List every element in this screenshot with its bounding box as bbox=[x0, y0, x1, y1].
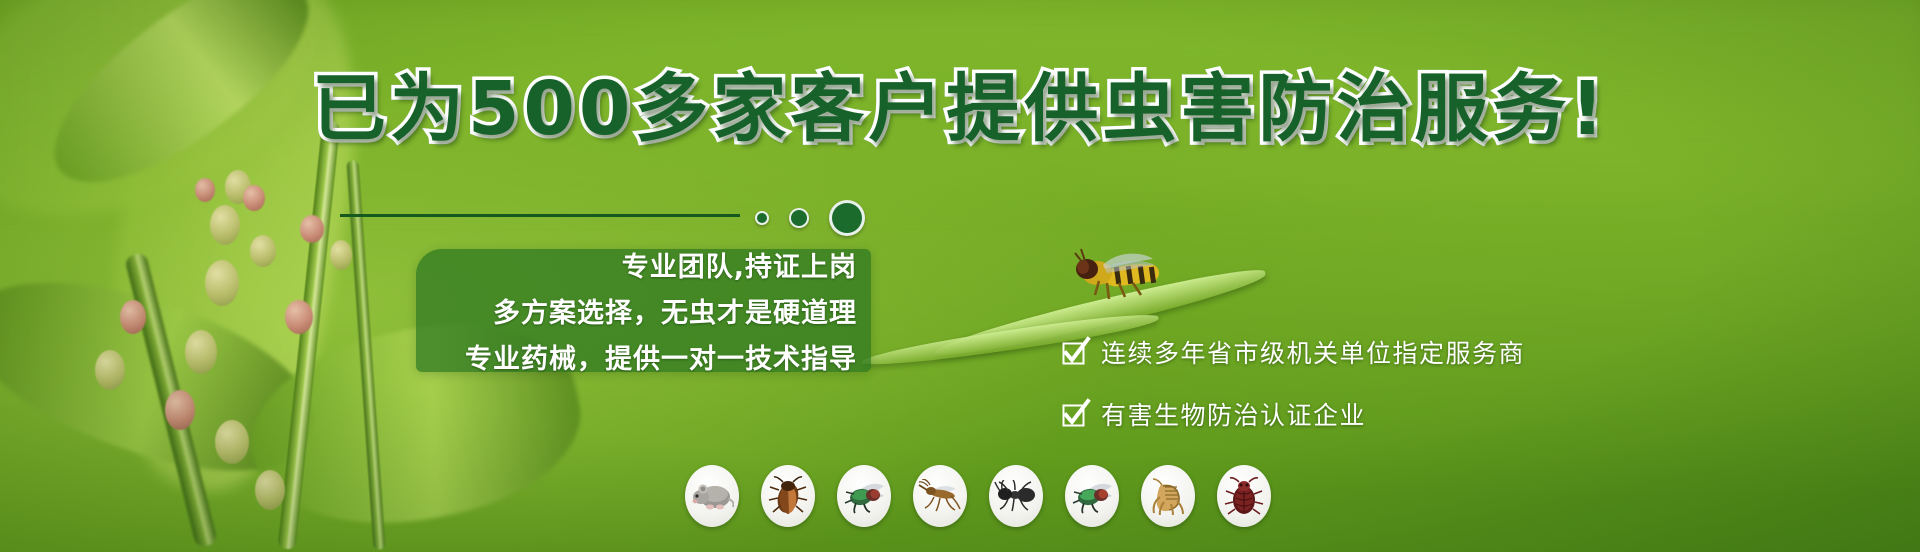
promo-banner: 已为500多家客户提供虫害防治服务! 专业团队,持证上岗 多方案选择，无虫才是硬… bbox=[0, 0, 1920, 552]
bedbug-icon[interactable] bbox=[1217, 465, 1271, 527]
credential-list: 连续多年省市级机关单位指定服务商 有害生物防治认证企业 bbox=[1062, 334, 1525, 432]
rodent-icon[interactable] bbox=[685, 465, 739, 527]
dot-small-icon bbox=[755, 211, 769, 225]
divider bbox=[340, 214, 740, 217]
page-title: 已为500多家客户提供虫害防治服务! bbox=[0, 72, 1920, 146]
feature-line-3: 专业药械，提供一对一技术指导 bbox=[465, 337, 857, 376]
checkbox-checked-icon bbox=[1062, 339, 1088, 365]
list-item-label: 连续多年省市级机关单位指定服务商 bbox=[1101, 334, 1525, 370]
feature-panel-text: 专业团队,持证上岗 多方案选择，无虫才是硬道理 专业药械，提供一对一技术指导 bbox=[416, 249, 871, 372]
checkbox-checked-icon bbox=[1062, 401, 1088, 427]
fly-icon[interactable] bbox=[837, 465, 891, 527]
list-item: 连续多年省市级机关单位指定服务商 bbox=[1062, 334, 1525, 370]
feature-line-1: 专业团队,持证上岗 bbox=[622, 245, 857, 284]
mosquito-icon[interactable] bbox=[913, 465, 967, 527]
cockroach-icon[interactable] bbox=[761, 465, 815, 527]
list-item-label: 有害生物防治认证企业 bbox=[1101, 396, 1366, 432]
list-item: 有害生物防治认证企业 bbox=[1062, 396, 1525, 432]
dot-large-icon bbox=[829, 200, 865, 236]
flea-icon[interactable] bbox=[1141, 465, 1195, 527]
dot-medium-icon bbox=[789, 208, 809, 228]
blowfly-icon[interactable] bbox=[1065, 465, 1119, 527]
page-title-text: 已为500多家客户提供虫害防治服务! bbox=[312, 66, 1608, 152]
feature-line-2: 多方案选择，无虫才是硬道理 bbox=[493, 291, 857, 330]
ant-icon[interactable] bbox=[989, 465, 1043, 527]
decorative-dots bbox=[755, 200, 865, 236]
pest-icon-row bbox=[685, 465, 1271, 527]
